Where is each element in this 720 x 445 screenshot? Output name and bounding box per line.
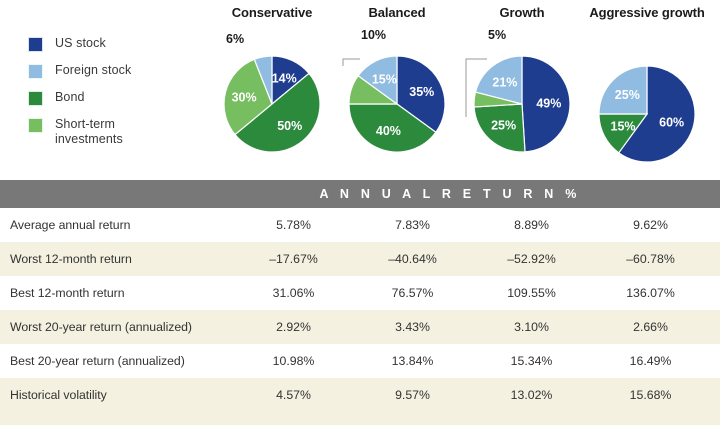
table-row-label: Worst 12-month return [0,252,234,266]
table-cell: 136.07% [591,286,710,300]
pie-slice-label: 60% [659,116,684,130]
leader-path [343,59,360,66]
table-cell: 13.02% [472,388,591,402]
table-cell: 2.66% [591,320,710,334]
pie-svg: 14%50%30% [220,52,324,156]
legend-item-foreign-stock: Foreign stock [28,63,203,79]
table-row: Historical volatility4.57%9.57%13.02%15.… [0,378,720,412]
pie-svg: 60%25%15% [595,62,699,166]
pie-chart-conservative: Conservative14%50%30%6% [208,0,336,180]
table-cell: –17.67% [234,252,353,266]
table-cell: 9.62% [591,218,710,232]
pie-callout-label: 6% [226,32,244,46]
pie-title: Conservative [208,5,336,20]
table-cell: 3.10% [472,320,591,334]
table-row-label: Historical volatility [0,388,234,402]
table-cell: 16.49% [591,354,710,368]
table-cell: 9.57% [353,388,472,402]
table-row: Worst 20-year return (annualized)2.92%3.… [0,310,720,344]
table-cell: 10.98% [234,354,353,368]
pie-slice-label: 14% [272,71,297,85]
pie-chart-balanced: Balanced35%15%40%10% [333,0,461,180]
annual-return-table: A N N U A L R E T U R N % Average annual… [0,180,720,425]
pie-callout-label: 5% [488,28,506,42]
table-cell: 4.57% [234,388,353,402]
legend-item-bond: Bond [28,90,203,106]
table-row-label: Best 20-year return (annualized) [0,354,234,368]
table-cell: 7.83% [353,218,472,232]
legend-label-short-term: Short-term investments [55,117,123,147]
pie-chart-aggressive-growth: Aggressive growth60%25%15% [583,0,711,180]
table-cell: –52.92% [472,252,591,266]
legend-swatch-us-stock [28,37,43,52]
pie-title: Aggressive growth [583,5,711,20]
pie-title: Growth [458,5,586,20]
table-cell: 109.55% [472,286,591,300]
leader-path [466,59,487,117]
legend-swatch-short-term [28,118,43,133]
pie-callout-label: 10% [361,28,386,42]
legend: US stock Foreign stock Bond Short-term i… [28,36,203,158]
table-cell: 15.34% [472,354,591,368]
table-cell: 5.78% [234,218,353,232]
pie-slice-label: 30% [232,90,257,104]
pie-chart-growth: Growth49%21%25%5% [458,0,586,180]
legend-swatch-foreign-stock [28,64,43,79]
table-cell: 76.57% [353,286,472,300]
table-cell: –40.64% [353,252,472,266]
legend-item-short-term: Short-term investments [28,117,203,147]
table-cell: 8.89% [472,218,591,232]
callout-leader-line [333,22,461,152]
pie-slice-label: 50% [277,119,302,133]
legend-label-us-stock: US stock [55,36,106,51]
table-row: Worst 12-month return–17.67%–40.64%–52.9… [0,242,720,276]
callout-leader-line [458,22,586,152]
table-header-bar: A N N U A L R E T U R N % [0,180,720,208]
table-footer-strip [0,412,720,425]
table-row: Best 12-month return31.06%76.57%109.55%1… [0,276,720,310]
pie-slice-label: 25% [615,88,640,102]
table-cell: –60.78% [591,252,710,266]
table-header-title: A N N U A L R E T U R N % [0,187,720,201]
pie-title: Balanced [333,5,461,20]
table-cell: 3.43% [353,320,472,334]
table-cell: 15.68% [591,388,710,402]
table-row: Average annual return5.78%7.83%8.89%9.62… [0,208,720,242]
table-row-label: Average annual return [0,218,234,232]
legend-swatch-bond [28,91,43,106]
table-row-label: Best 12-month return [0,286,234,300]
table-cell: 2.92% [234,320,353,334]
pie-slice-label: 15% [611,120,636,134]
legend-label-bond: Bond [55,90,85,105]
legend-label-foreign-stock: Foreign stock [55,63,131,78]
table-body: Average annual return5.78%7.83%8.89%9.62… [0,208,720,412]
legend-item-us-stock: US stock [28,36,203,52]
table-cell: 13.84% [353,354,472,368]
table-cell: 31.06% [234,286,353,300]
table-row-label: Worst 20-year return (annualized) [0,320,234,334]
table-row: Best 20-year return (annualized)10.98%13… [0,344,720,378]
pie-chart-group: Conservative14%50%30%6%Balanced35%15%40%… [208,0,720,180]
